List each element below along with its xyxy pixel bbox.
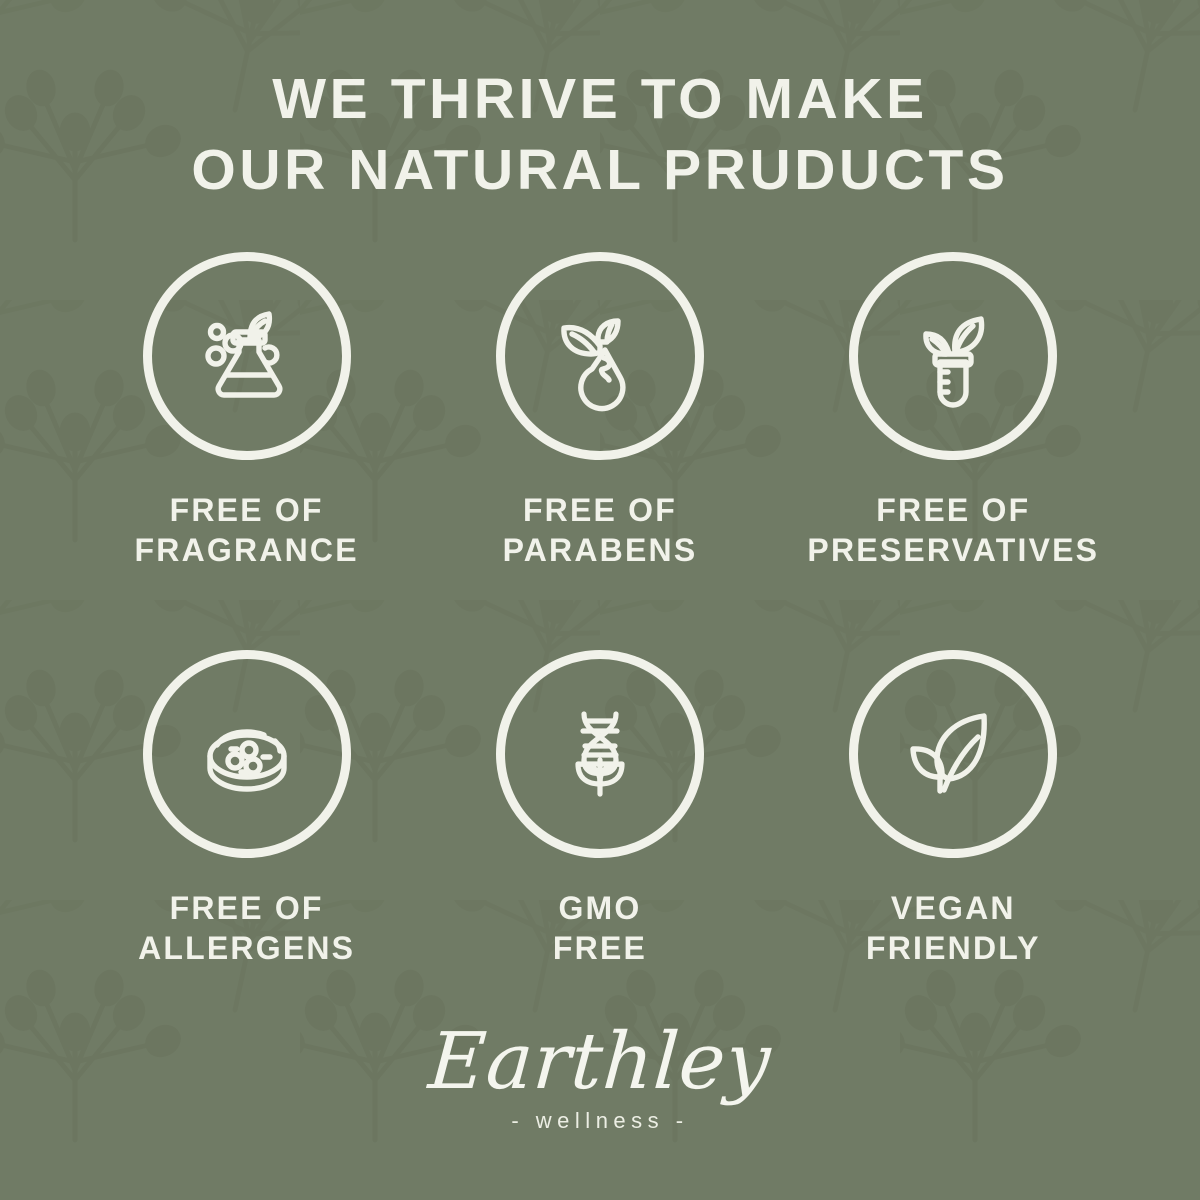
badge-vegan-friendly: VEGAN FRIENDLY bbox=[777, 650, 1130, 968]
badge-free-of-fragrance: FREE OF FRAGRANCE bbox=[70, 252, 423, 570]
brand-tagline: - wellness - bbox=[511, 1108, 688, 1134]
headline-line-2: OUR NATURAL PRUDUCTS bbox=[191, 135, 1008, 206]
badge-ring bbox=[496, 650, 704, 858]
dna-plant-icon bbox=[540, 694, 660, 814]
brand-logo: Earthley - wellness - bbox=[429, 1020, 770, 1134]
test-tube-with-leaves-icon bbox=[893, 296, 1013, 416]
badge-grid: FREE OF FRAGRANCE FREE OF PARABENS bbox=[70, 252, 1130, 968]
badge-ring bbox=[143, 252, 351, 460]
badge-ring bbox=[496, 252, 704, 460]
badge-ring bbox=[143, 650, 351, 858]
brand-wordmark: Earthley bbox=[426, 1020, 773, 1104]
badge-label: VEGAN FRIENDLY bbox=[866, 888, 1041, 968]
badge-free-of-allergens: FREE OF ALLERGENS bbox=[70, 650, 423, 968]
promo-graphic: WE THRIVE TO MAKE OUR NATURAL PRUDUCTS bbox=[0, 0, 1200, 1200]
droplet-with-leaves-icon bbox=[540, 296, 660, 416]
badge-label: FREE OF PRESERVATIVES bbox=[807, 490, 1099, 570]
badge-label: GMO FREE bbox=[553, 888, 647, 968]
badge-label: FREE OF FRAGRANCE bbox=[135, 490, 359, 570]
petri-dish-icon bbox=[187, 694, 307, 814]
badge-gmo-free: GMO FREE bbox=[423, 650, 776, 968]
badge-ring bbox=[849, 650, 1057, 858]
badge-free-of-parabens: FREE OF PARABENS bbox=[423, 252, 776, 570]
flask-with-leaf-icon bbox=[187, 296, 307, 416]
badge-free-of-preservatives: FREE OF PRESERVATIVES bbox=[777, 252, 1130, 570]
page-title: WE THRIVE TO MAKE OUR NATURAL PRUDUCTS bbox=[191, 0, 1008, 206]
headline-line-1: WE THRIVE TO MAKE bbox=[191, 64, 1008, 135]
badge-ring bbox=[849, 252, 1057, 460]
two-leaves-icon bbox=[893, 694, 1013, 814]
badge-label: FREE OF ALLERGENS bbox=[138, 888, 355, 968]
content-layer: WE THRIVE TO MAKE OUR NATURAL PRUDUCTS bbox=[0, 0, 1200, 1200]
badge-label: FREE OF PARABENS bbox=[503, 490, 698, 570]
